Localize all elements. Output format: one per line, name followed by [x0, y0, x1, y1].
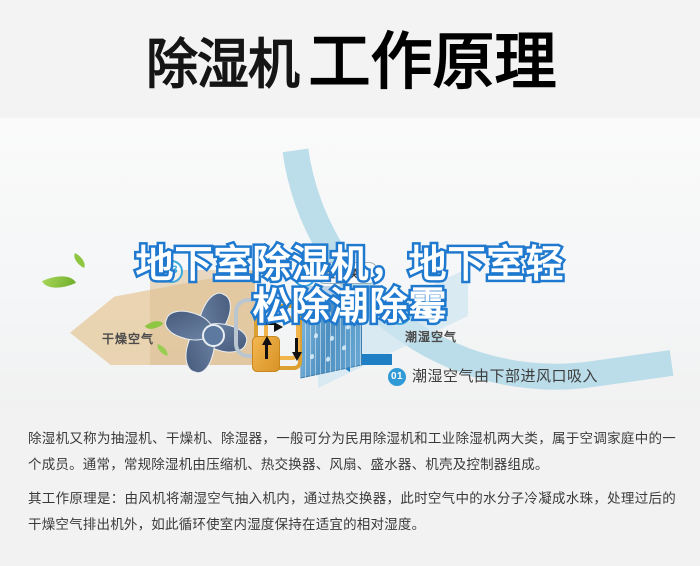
- humid-air-label: 潮湿空气: [405, 328, 457, 345]
- flow-arrow-up-icon: [262, 336, 272, 345]
- working-principle-diagram: 水箱 干燥空气 潮湿空气 01 02 03 03 热交换器 01潮湿空气由下部进…: [0, 118, 700, 410]
- page-title-primary: 除湿机: [147, 38, 300, 92]
- flow-arrow-down-shaft: [295, 338, 298, 352]
- diagram-badge-03: 03: [160, 260, 183, 283]
- diagram-badge-01: 01: [388, 302, 411, 325]
- fan-hub: [202, 324, 225, 347]
- step-text-1: 潮湿空气由下部进风口吸入: [412, 368, 598, 385]
- heat-exchanger-callout: 热交换器: [316, 262, 378, 284]
- page-title-secondary: 工作原理: [308, 32, 556, 94]
- compressor-coil-assembly: [250, 296, 312, 376]
- step-badge-1: 01: [388, 368, 406, 386]
- dry-air-label: 干燥空气: [102, 330, 154, 347]
- promo-image-page: 除湿机工作原理: [0, 0, 700, 566]
- flow-arrow-right-icon: [274, 322, 283, 332]
- flow-arrow-down-icon: [292, 352, 302, 361]
- description-paragraph-1: 除湿机又称为抽湿机、干燥机、除湿器，一般可分为民用除湿机和工业除湿机两大类，属于…: [28, 426, 676, 478]
- flow-arrow-up-shaft: [265, 345, 268, 359]
- description-paragraph-2: 其工作原理是：由风机将潮湿空气抽入机内，通过热交换器，此时空气中的水分子冷凝成水…: [28, 486, 676, 538]
- description-section: 除湿机又称为抽湿机、干燥机、除湿器，一般可分为民用除湿机和工业除湿机两大类，属于…: [0, 408, 700, 566]
- page-title: 除湿机工作原理: [0, 32, 700, 94]
- step-item-1: 01潮湿空气由下部进风口吸入: [388, 365, 598, 386]
- header-banner: 除湿机工作原理: [0, 0, 700, 125]
- diagram-badge-02: 02: [293, 264, 316, 287]
